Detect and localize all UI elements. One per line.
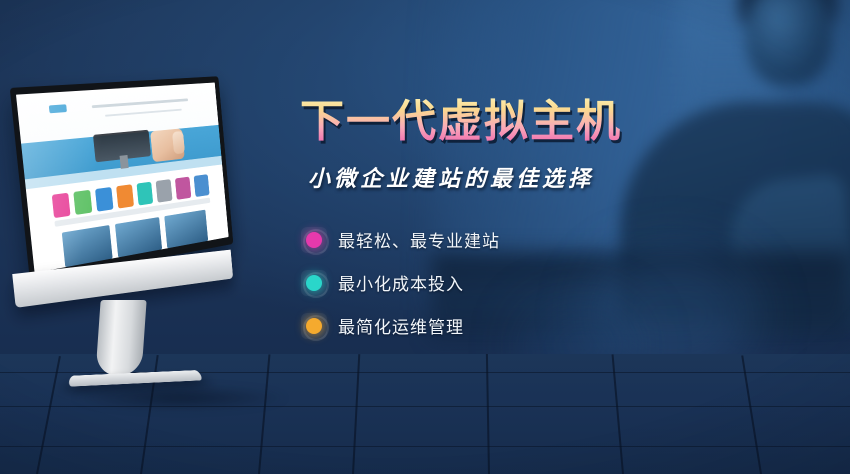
feature-label: 最轻松、最专业建站: [338, 227, 500, 252]
website-hero-person: [150, 128, 184, 162]
bullet-dot-icon: [306, 275, 322, 291]
page-subtitle: 小微企业建站的最佳选择: [308, 161, 720, 193]
bullet-dot-icon: [306, 232, 322, 248]
feature-label: 最小化成本投入: [338, 270, 464, 295]
feature-label: 最简化运维管理: [338, 313, 464, 338]
website-logo-icon: [49, 104, 67, 113]
banner-copy: 下一代虚拟主机 小微企业建站的最佳选择 最轻松、最专业建站 最小化成本投入 最简…: [300, 96, 720, 356]
monitor-stand-neck: [95, 300, 146, 376]
monitor-screen: [10, 76, 234, 282]
list-item: 最小化成本投入: [306, 270, 720, 295]
person-head: [746, 0, 832, 86]
website-hero-stand: [119, 155, 128, 169]
monitor-stand-base: [68, 370, 203, 387]
list-item: 最轻松、最专业建站: [306, 227, 720, 252]
desktop-computer-illustration: [8, 82, 308, 412]
page-title: 下一代虚拟主机: [300, 96, 720, 147]
bullet-dot-icon: [306, 318, 322, 334]
list-item: 最简化运维管理: [306, 313, 720, 338]
promo-banner: 下一代虚拟主机 小微企业建站的最佳选择 最轻松、最专业建站 最小化成本投入 最简…: [0, 0, 850, 474]
feature-list: 最轻松、最专业建站 最小化成本投入 最简化运维管理: [306, 227, 720, 338]
monitor-screen-content: [16, 83, 229, 273]
